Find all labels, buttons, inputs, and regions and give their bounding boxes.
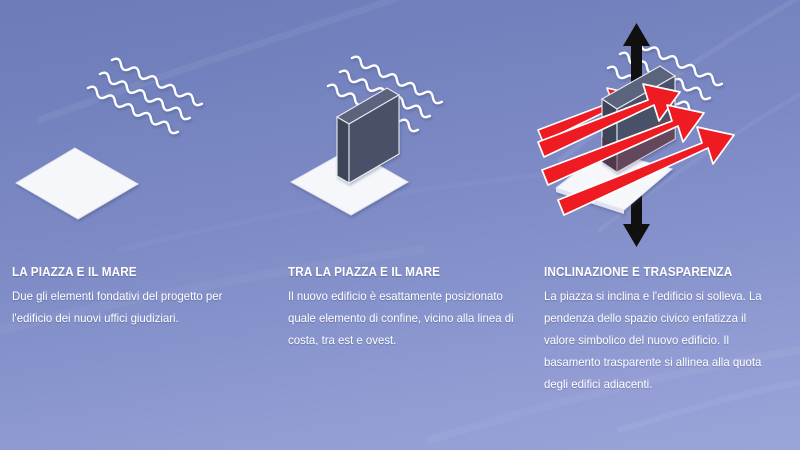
isometric-building-block bbox=[337, 88, 399, 183]
plaza-and-sea-diagram bbox=[0, 0, 278, 265]
panel-2-heading: TRA LA PIAZZA E IL MARE bbox=[288, 265, 512, 279]
panel-3-body: La piazza si inclina e l'edificio si sol… bbox=[544, 285, 778, 395]
isometric-plaza-slab bbox=[16, 148, 138, 219]
concept-panel-tilt-and-transparency: INCLINAZIONE E TRASPARENZA La piazza si … bbox=[536, 0, 800, 450]
panel-1-body: Due gli elementi fondativi del progetto … bbox=[12, 285, 255, 329]
panel-3-heading: INCLINAZIONE E TRASPARENZA bbox=[544, 265, 775, 279]
panel-3-caption: INCLINAZIONE E TRASPARENZA La piazza si … bbox=[544, 265, 790, 395]
presentation-slide: LA PIAZZA E IL MARE Due gli elementi fon… bbox=[0, 0, 800, 450]
sea-wave-lines bbox=[86, 57, 203, 135]
panel-2-caption: TRA LA PIAZZA E IL MARE Il nuovo edifici… bbox=[288, 265, 526, 351]
concept-panel-between-plaza-and-sea: TRA LA PIAZZA E IL MARE Il nuovo edifici… bbox=[278, 0, 536, 450]
panel-2-body: Il nuovo edificio è esattamente posizion… bbox=[288, 285, 514, 351]
building-on-plaza-diagram bbox=[278, 0, 536, 265]
tilt-and-transparency-diagram bbox=[536, 0, 800, 265]
panel-1-heading: LA PIAZZA E IL MARE bbox=[12, 265, 253, 279]
panel-1-caption: LA PIAZZA E IL MARE Due gli elementi fon… bbox=[12, 265, 268, 329]
concept-panel-plaza-and-sea: LA PIAZZA E IL MARE Due gli elementi fon… bbox=[0, 0, 278, 450]
